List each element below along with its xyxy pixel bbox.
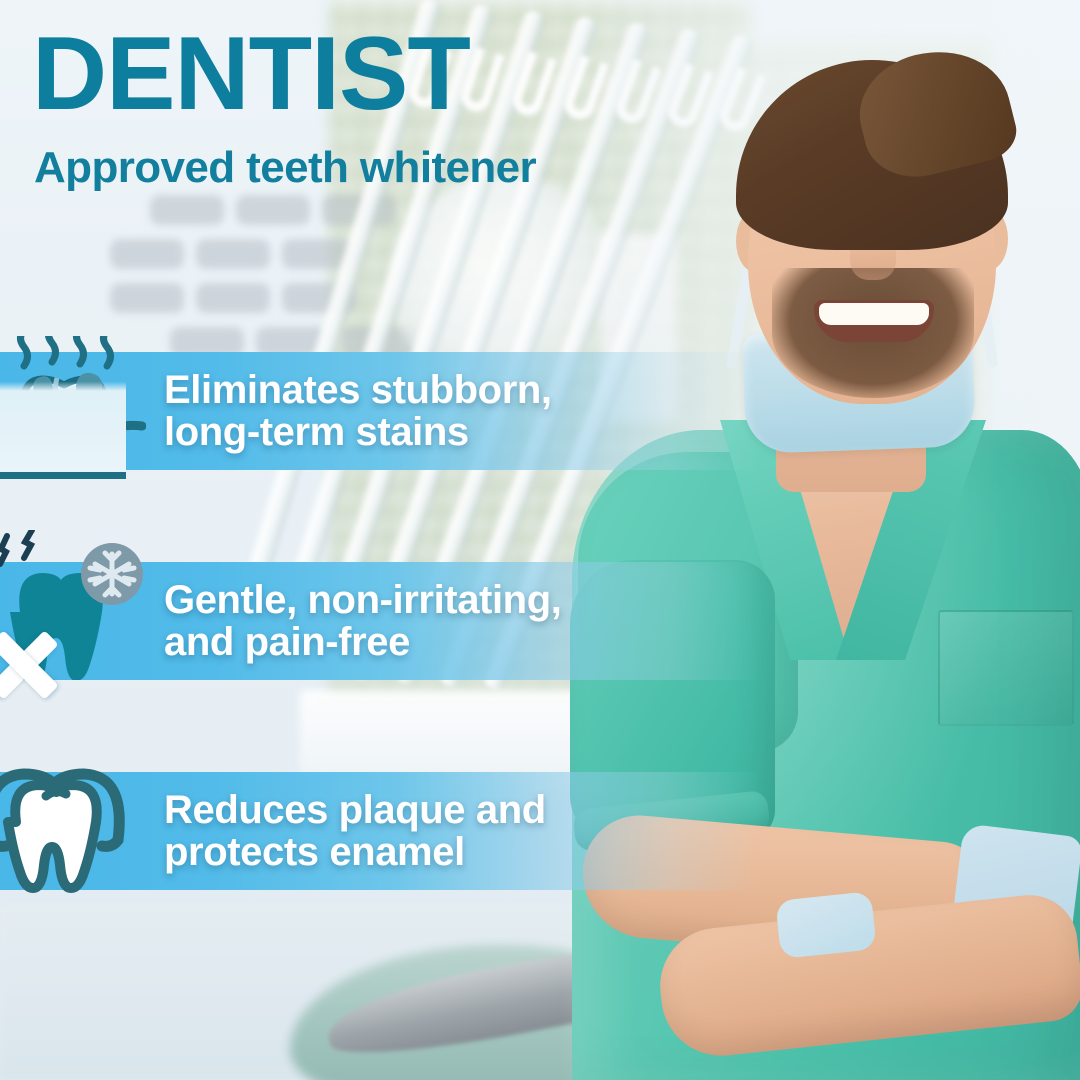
no-pain-x-icon <box>0 630 66 704</box>
feature-label-stains: Eliminates stubborn, long-term stains <box>164 369 552 454</box>
scrubs-chest-pocket <box>938 610 1074 726</box>
stained-tooth-icon <box>0 336 146 486</box>
white-teeth <box>819 303 929 325</box>
dentist-photo <box>560 0 1080 1080</box>
smiling-mouth <box>814 300 934 342</box>
stained-tooth-icon-baseline <box>0 472 126 479</box>
page-subtitle: Approved teeth whitener <box>34 146 536 190</box>
feature-band-plaque[interactable]: Reduces plaque and protects enamel <box>0 772 760 890</box>
feature-band-gentle[interactable]: Gentle, non-irritating, and pain-free <box>0 562 760 680</box>
feature-band-stains[interactable]: Eliminates stubborn, long-term stains <box>0 352 760 470</box>
stained-tooth-icon-backdrop <box>0 320 126 474</box>
feature-label-gentle: Gentle, non-irritating, and pain-free <box>164 579 561 664</box>
poster-canvas: DENTIST Approved teeth whitener Eliminat… <box>0 0 1080 1080</box>
sensitive-tooth-no-pain-icon <box>0 546 146 696</box>
protected-tooth-icon <box>0 756 146 906</box>
feature-label-plaque: Reduces plaque and protects enamel <box>164 789 546 874</box>
protected-tooth-icon-glyph <box>0 744 140 894</box>
glove-cuff-left <box>775 891 877 959</box>
page-title: DENTIST <box>32 22 470 126</box>
